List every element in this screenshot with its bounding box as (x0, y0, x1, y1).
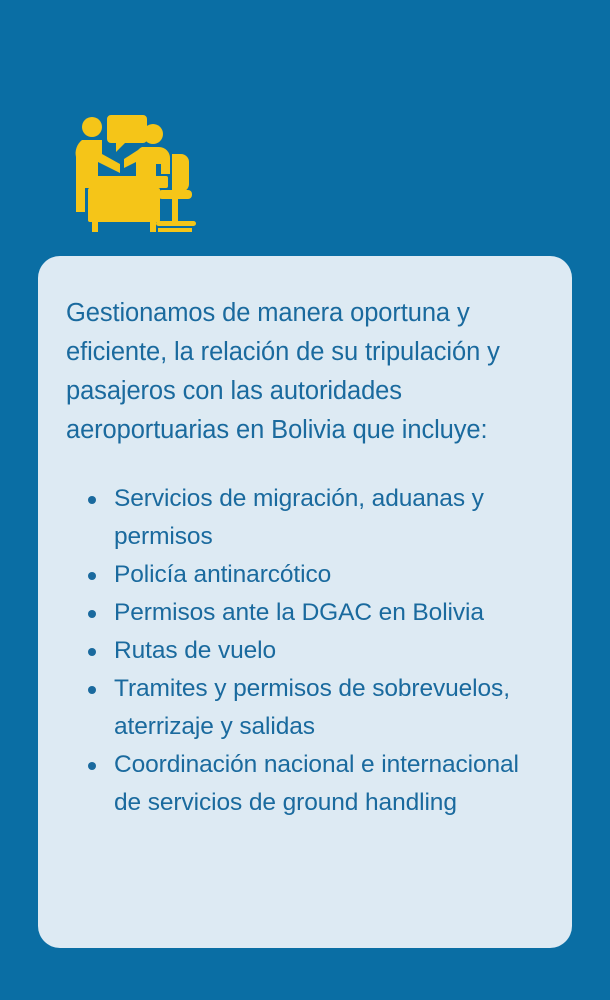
list-item: Rutas de vuelo (66, 632, 542, 670)
list-item: Policía antinarcótico (66, 556, 542, 594)
bullet-dot-icon (88, 610, 96, 618)
services-list: Servicios de migración, aduanas y permis… (66, 480, 542, 822)
list-item: Permisos ante la DGAC en Bolivia (66, 594, 542, 632)
list-item: Servicios de migración, aduanas y permis… (66, 480, 542, 556)
bullet-dot-icon (88, 648, 96, 656)
list-item: Tramites y permisos de sobrevuelos, ater… (66, 670, 542, 746)
list-item-label: Servicios de migración, aduanas y permis… (114, 485, 484, 550)
card-intro-text: Gestionamos de manera oportuna y eficien… (66, 294, 542, 450)
info-card: Gestionamos de manera oportuna y eficien… (38, 256, 572, 948)
list-item: Coordinación nacional e internacional de… (66, 746, 542, 822)
bullet-dot-icon (88, 496, 96, 504)
page-root: Gestionamos de manera oportuna y eficien… (0, 0, 610, 1000)
two-people-at-desk-with-chat-bubble-icon (70, 110, 210, 235)
list-item-label: Coordinación nacional e internacional de… (114, 751, 519, 816)
list-item-label: Tramites y permisos de sobrevuelos, ater… (114, 675, 510, 740)
list-item-label: Permisos ante la DGAC en Bolivia (114, 599, 484, 626)
list-item-label: Rutas de vuelo (114, 637, 276, 664)
list-item-label: Policía antinarcótico (114, 561, 331, 588)
bullet-dot-icon (88, 762, 96, 770)
bullet-dot-icon (88, 686, 96, 694)
bullet-dot-icon (88, 572, 96, 580)
